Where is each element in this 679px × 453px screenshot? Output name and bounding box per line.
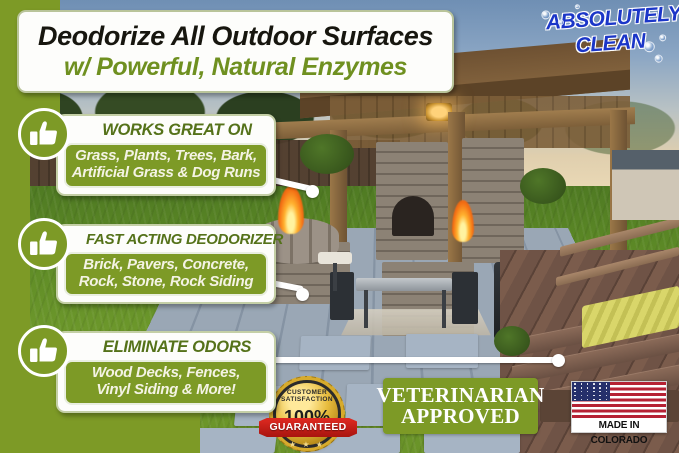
shrub-right [494, 326, 530, 356]
feature-card: FAST ACTING DEODORIZER Brick, Pavers, Co… [56, 224, 276, 304]
feature-title: WORKS GREAT ON [64, 120, 268, 143]
seal-stars: ★ ★ ★ [276, 440, 338, 449]
stone-chimney-right [462, 138, 524, 263]
vet-line-2: APPROVED [401, 406, 520, 427]
table-leg-right [442, 290, 446, 328]
seal-arc-text: CUSTOMER SATISFACTION [276, 389, 338, 403]
vet-line-1: VETERINARIAN [376, 385, 544, 406]
feature-body-line-1: Grass, Plants, Trees, Bark, [70, 148, 262, 165]
satisfaction-guarantee-seal: CUSTOMER SATISFACTION 100% ★ ★ ★ GUARANT… [263, 378, 353, 448]
feature-body-line-1: Brick, Pavers, Concrete, [70, 257, 262, 274]
feature-card: ELIMINATE ODORS Wood Decks, Fences, Viny… [56, 331, 276, 413]
thumbs-up-badge [18, 108, 70, 160]
feature-body: Wood Decks, Fences, Vinyl Siding & More! [64, 360, 268, 405]
pointer-dot-1 [306, 185, 319, 198]
made-in-colorado-badge: MADE IN COLORADO [571, 381, 667, 433]
seal-ribbon: GUARANTEED [259, 418, 357, 437]
feature-card: WORKS GREAT ON Grass, Plants, Trees, Bar… [56, 114, 276, 196]
us-flag-icon [572, 382, 666, 418]
thumbs-up-badge [18, 218, 70, 270]
feature-body-line-2: Vinyl Siding & More! [70, 382, 262, 399]
feature-body-line-2: Artificial Grass & Dog Runs [70, 165, 262, 182]
shrub-mid [520, 168, 566, 204]
patio-table [356, 278, 452, 291]
pointer-line-3 [240, 357, 558, 363]
bar-stool-leg [333, 263, 337, 291]
thumbs-up-icon [28, 119, 60, 149]
feature-title: ELIMINATE ODORS [64, 337, 268, 360]
pointer-dot-3 [552, 354, 565, 367]
bubble-icon [654, 54, 663, 63]
patio-chair-right [452, 272, 478, 324]
colorado-label: MADE IN COLORADO [572, 418, 666, 448]
feature-body: Brick, Pavers, Concrete, Rock, Stone, Ro… [64, 252, 268, 297]
feature-body-line-1: Wood Decks, Fences, [70, 365, 262, 382]
thumbs-up-icon [28, 336, 60, 366]
veterinarian-approved-badge: VETERINARIAN APPROVED [383, 378, 538, 434]
stepping-stone [299, 336, 371, 370]
feature-title: FAST ACTING DEODORIZER [64, 230, 268, 252]
headline-line-1: Deodorize All Outdoor Surfaces [38, 22, 433, 50]
shrub-left [300, 134, 354, 174]
feature-body: Grass, Plants, Trees, Bark, Artificial G… [64, 143, 268, 188]
headline-line-2: w/ Powerful, Natural Enzymes [64, 53, 407, 81]
table-leg-left [364, 290, 368, 328]
seal-disc: CUSTOMER SATISFACTION 100% ★ ★ ★ [273, 380, 341, 448]
flag-canton [572, 382, 610, 401]
fireplace-firebox [392, 196, 434, 236]
thumbs-up-badge [18, 325, 70, 377]
neighbor-house [612, 150, 679, 220]
brand-logo: ABSOLUTELY CLEAN [545, 4, 675, 71]
thumbs-up-icon [28, 229, 60, 259]
pointer-dot-2 [296, 288, 309, 301]
headline-card: Deodorize All Outdoor Surfaces w/ Powerf… [17, 10, 454, 93]
feature-body-line-2: Rock, Stone, Rock Siding [70, 274, 262, 291]
product-advertisement: Deodorize All Outdoor Surfaces w/ Powerf… [0, 0, 679, 453]
